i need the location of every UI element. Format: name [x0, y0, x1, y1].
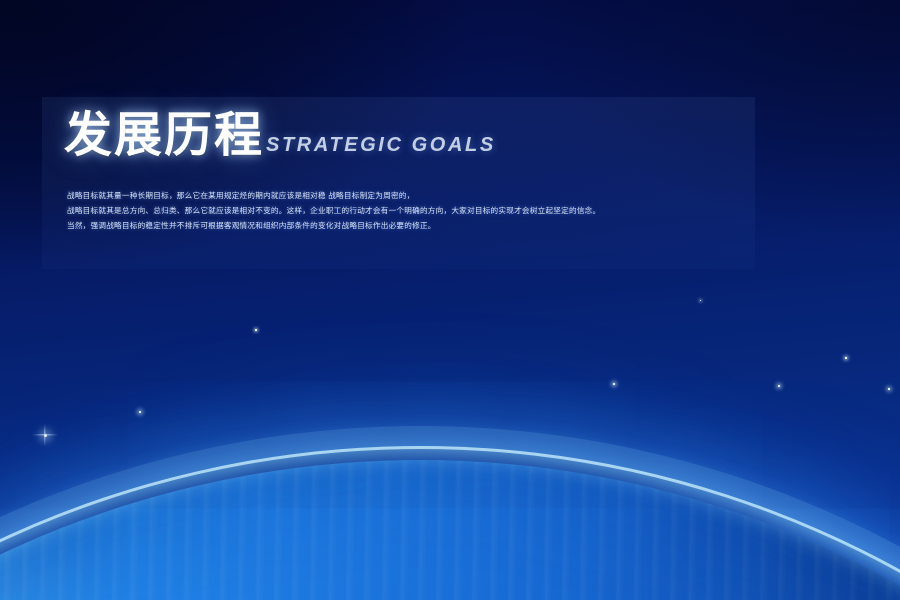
body-line: 当然，强调战略目标的稳定性并不排斥可根据客观情况和组织内部条件的变化对战略目标作…	[67, 218, 747, 233]
page-subtitle: STRATEGIC GOALS	[266, 134, 496, 160]
banner-stage: 发展历程 STRATEGIC GOALS 战略目标就其量一种长期目标，那么它在某…	[0, 0, 900, 600]
page-title: 发展历程	[64, 112, 264, 160]
star-4	[845, 357, 846, 358]
headline-group: 发展历程 STRATEGIC GOALS	[64, 112, 496, 160]
body-line: 战略目标就其是总方向、总归类、那么它就应该是相对不变的。这样，企业职工的行动才会…	[67, 203, 747, 218]
star-1	[139, 411, 141, 413]
star-0	[44, 434, 47, 437]
earth-globe	[0, 270, 900, 600]
star-6	[255, 329, 256, 330]
earth-sphere	[0, 270, 900, 600]
body-paragraph: 战略目标就其量一种长期目标，那么它在某用规定烃的期内就应该是相对稳 战略目标制定…	[67, 188, 747, 233]
star-2	[613, 383, 615, 385]
body-line: 战略目标就其量一种长期目标，那么它在某用规定烃的期内就应该是相对稳 战略目标制定…	[67, 188, 747, 203]
star-7	[700, 300, 701, 301]
star-5	[888, 388, 889, 389]
star-3	[778, 385, 780, 387]
